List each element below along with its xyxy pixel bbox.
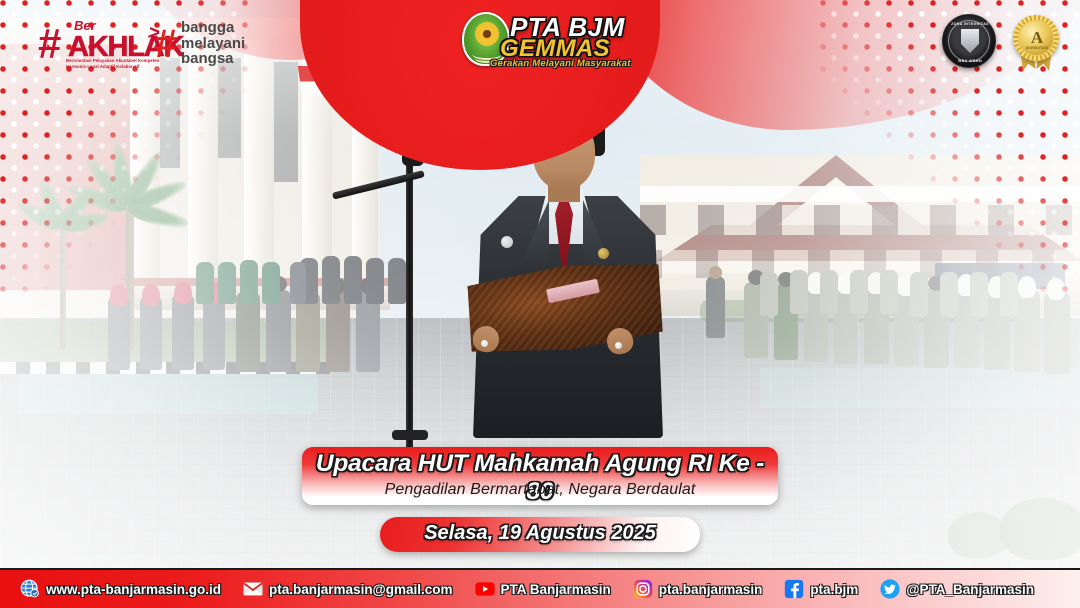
hash-symbol-icon: # bbox=[155, 22, 175, 67]
lapel-badge bbox=[598, 248, 609, 259]
bangga-line-2: melayani bbox=[181, 35, 245, 52]
globe-icon bbox=[20, 579, 40, 599]
seal-top-text: ZONA INTEGRITAS bbox=[943, 22, 997, 26]
teal-pavement-right bbox=[760, 368, 1080, 408]
instagram-handle: pta.banjarmasin bbox=[659, 582, 763, 597]
email-address: pta.banjarmasin@gmail.com bbox=[269, 582, 452, 597]
event-tagline: Pengadilan Bermartabat, Negara Berdaulat bbox=[302, 481, 778, 499]
bangga-line-3: bangsa bbox=[181, 50, 234, 67]
footer-item-twitter[interactable]: @PTA_Banjarmasin bbox=[880, 579, 1034, 599]
bangga-melayani-bangsa-logo: # bangga melayani bangsa bbox=[155, 14, 275, 70]
medal-subtext: AKREDITASI bbox=[1019, 46, 1055, 50]
gemmas-subtitle: Gerakan Melayani Masyarakat bbox=[490, 58, 631, 69]
facebook-handle: pta.bjm bbox=[810, 582, 858, 597]
shrub-right-2 bbox=[948, 512, 1008, 558]
event-title-banner: Upacara HUT Mahkamah Agung RI Ke - 80 Pe… bbox=[302, 447, 778, 505]
sun-star-icon bbox=[477, 24, 497, 44]
hash-symbol-icon: # bbox=[38, 20, 59, 68]
contact-footer-bar: www.pta-banjarmasin.go.id pta.banjarmasi… bbox=[0, 568, 1080, 608]
zona-integritas-seal-icon: ZONA INTEGRITAS WBK WBBM bbox=[942, 14, 996, 68]
pta-bjm-gemmas-logo: PTA BJM GEMMAS Gerakan Melayani Masyarak… bbox=[452, 4, 632, 74]
twitter-icon bbox=[880, 579, 900, 599]
seal-bottom-text: WBK WBBM bbox=[943, 59, 997, 63]
instagram-icon bbox=[633, 579, 653, 599]
bangga-lines: bangga melayani bangsa bbox=[181, 20, 245, 67]
lapel-pin bbox=[501, 236, 513, 248]
bangga-line-1: bangga bbox=[181, 19, 234, 36]
akreditasi-medal-icon: A AKREDITASI bbox=[1010, 12, 1062, 70]
email-icon bbox=[243, 579, 263, 599]
footer-item-website[interactable]: www.pta-banjarmasin.go.id bbox=[20, 579, 221, 599]
event-date: Selasa, 19 Agustus 2025 bbox=[380, 522, 700, 545]
youtube-icon bbox=[475, 579, 495, 599]
footer-item-facebook[interactable]: pta.bjm bbox=[784, 579, 858, 599]
medal-letter: A bbox=[1019, 28, 1055, 48]
footer-item-youtube[interactable]: PTA Banjarmasin bbox=[475, 579, 611, 599]
twitter-handle: @PTA_Banjarmasin bbox=[906, 582, 1034, 597]
teal-pavement-left bbox=[18, 374, 318, 414]
youtube-handle: PTA Banjarmasin bbox=[501, 582, 611, 597]
footer-item-instagram[interactable]: pta.banjarmasin bbox=[633, 579, 763, 599]
footer-item-email[interactable]: pta.banjarmasin@gmail.com bbox=[243, 579, 452, 599]
event-date-banner: Selasa, 19 Agustus 2025 bbox=[380, 517, 700, 552]
shrub-right bbox=[1000, 498, 1080, 560]
event-poster: # Ber AKHLAK > Berorientasi Pelayanan Ak… bbox=[0, 0, 1080, 608]
ber-akhlak-logo: # Ber AKHLAK > Berorientasi Pelayanan Ak… bbox=[38, 14, 166, 70]
facebook-icon bbox=[784, 579, 804, 599]
website-url: www.pta-banjarmasin.go.id bbox=[46, 582, 221, 597]
shield-icon bbox=[961, 29, 979, 53]
